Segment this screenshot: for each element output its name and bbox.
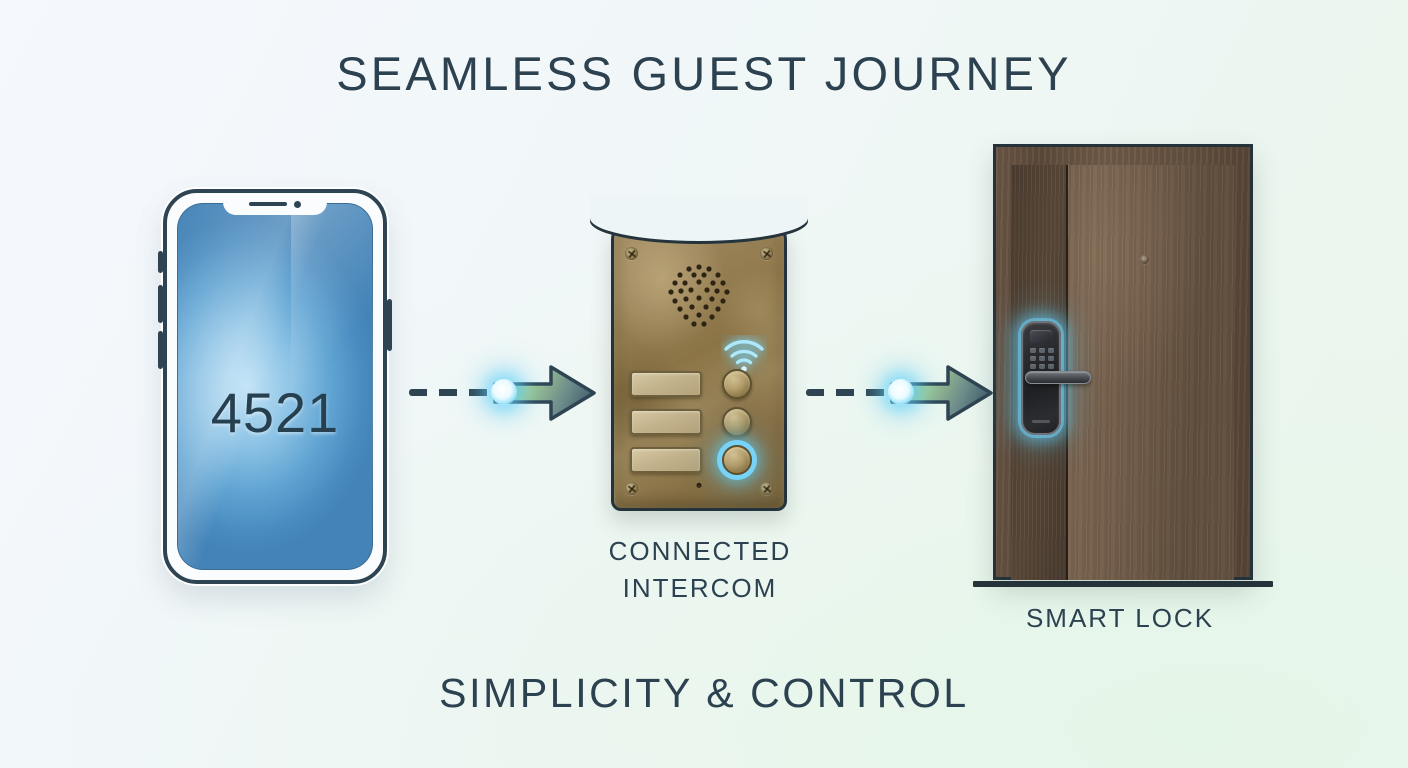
intercom-call-button[interactable] <box>722 369 752 399</box>
phone-power-button[interactable] <box>387 299 392 351</box>
screw-icon <box>760 247 773 260</box>
phone-camera-icon <box>294 201 301 208</box>
door-threshold <box>973 581 1273 587</box>
keypad-key[interactable] <box>1039 364 1045 369</box>
phone-volume-down-button[interactable] <box>158 331 163 369</box>
screw-icon <box>625 482 638 495</box>
footer-tagline: SIMPLICITY & CONTROL <box>0 670 1408 717</box>
connector-phone-to-intercom <box>409 358 595 428</box>
infographic-canvas: SEAMLESS GUEST JOURNEY 4521 <box>0 0 1408 768</box>
keypad-key[interactable] <box>1048 348 1054 353</box>
page-title: SEAMLESS GUEST JOURNEY <box>0 46 1408 101</box>
phone-notch-speaker-icon <box>249 202 287 206</box>
dashed-line-icon <box>806 389 894 396</box>
intercom-call-button-active[interactable] <box>722 445 752 475</box>
phone-silent-switch[interactable] <box>158 251 163 273</box>
keypad-key[interactable] <box>1048 364 1054 369</box>
intercom-caption-line1: CONNECTED <box>545 533 855 570</box>
microphone-icon <box>697 483 702 488</box>
door-illustration <box>993 144 1253 580</box>
connector-intercom-to-lock <box>806 358 992 428</box>
intercom-nameplate <box>630 371 702 397</box>
peephole-icon <box>1140 255 1149 264</box>
intercom-nameplate <box>630 447 702 473</box>
intercom-top-curve <box>590 195 808 241</box>
card-reader-icon <box>1030 330 1052 343</box>
intercom-caption: CONNECTED INTERCOM <box>545 533 855 607</box>
dashed-line-icon <box>409 389 497 396</box>
keypad-key[interactable] <box>1048 356 1054 361</box>
keypad-key[interactable] <box>1039 356 1045 361</box>
phone-volume-up-button[interactable] <box>158 285 163 323</box>
keypad-key[interactable] <box>1030 356 1036 361</box>
keypad-key[interactable] <box>1039 348 1045 353</box>
intercom-illustration <box>611 225 787 511</box>
keypad-key[interactable] <box>1030 348 1036 353</box>
wifi-icon <box>721 335 767 375</box>
phone-screen: 4521 <box>177 203 373 570</box>
phone-body: 4521 <box>163 189 387 584</box>
signal-glow-dot-icon <box>491 379 517 405</box>
phone-notch <box>223 193 327 215</box>
keypad-key[interactable] <box>1030 364 1036 369</box>
screw-icon <box>760 482 773 495</box>
lock-brand-mark <box>1032 420 1050 423</box>
signal-glow-dot-icon <box>888 379 914 405</box>
intercom-caption-line2: INTERCOM <box>545 570 855 607</box>
access-code-value: 4521 <box>178 380 372 445</box>
intercom-nameplate <box>630 409 702 435</box>
door-handle-icon[interactable] <box>1025 371 1091 384</box>
speaker-grille-icon <box>661 261 737 331</box>
intercom-call-button[interactable] <box>722 407 752 437</box>
screw-icon <box>625 247 638 260</box>
lock-caption: SMART LOCK <box>965 600 1275 637</box>
smartphone-illustration: 4521 <box>163 189 387 584</box>
